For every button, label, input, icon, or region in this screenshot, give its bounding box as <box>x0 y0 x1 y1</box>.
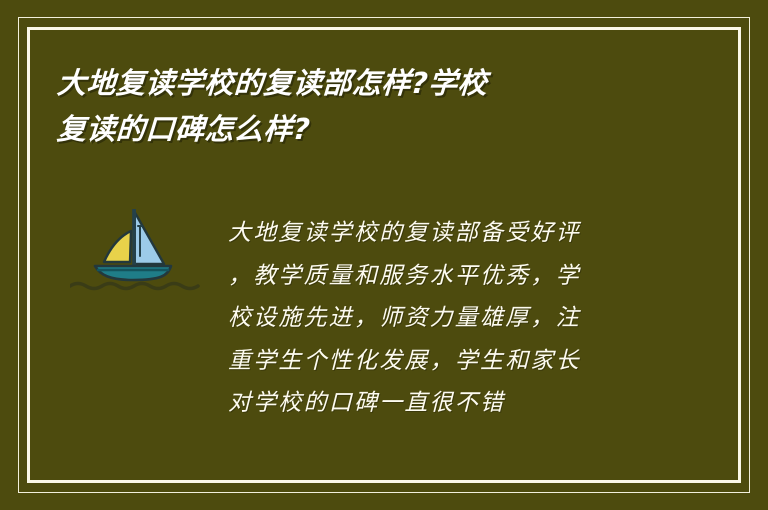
body-paragraph: 大地复读学校的复读部备受好评 ，教学质量和服务水平优秀，学 校设施先进，师资力量… <box>228 212 648 425</box>
water-waves-icon <box>70 284 198 289</box>
body-line-5: 对学校的口碑一直很不错 <box>228 382 648 425</box>
mast-icon <box>132 209 136 267</box>
sailboat-illustration <box>70 198 202 293</box>
body-line-4: 重学生个性化发展，学生和家长 <box>228 340 648 383</box>
title-line-2: 复读的口碑怎么样? <box>56 106 658 152</box>
page-title: 大地复读学校的复读部怎样?学校 复读的口碑怎么样? <box>57 60 657 152</box>
main-sail-icon <box>134 211 164 264</box>
body-line-2: ，教学质量和服务水平优秀，学 <box>228 255 648 298</box>
body-line-1: 大地复读学校的复读部备受好评 <box>228 212 648 255</box>
jib-sail-icon <box>104 231 131 262</box>
hull-icon <box>95 266 171 280</box>
poster-canvas: 大地复读学校的复读部怎样?学校 复读的口碑怎么样? 大地复读学校的复读部备受好评… <box>0 0 768 510</box>
title-line-1: 大地复读学校的复读部怎样?学校 <box>56 60 658 106</box>
body-line-3: 校设施先进，师资力量雄厚，注 <box>228 297 648 340</box>
